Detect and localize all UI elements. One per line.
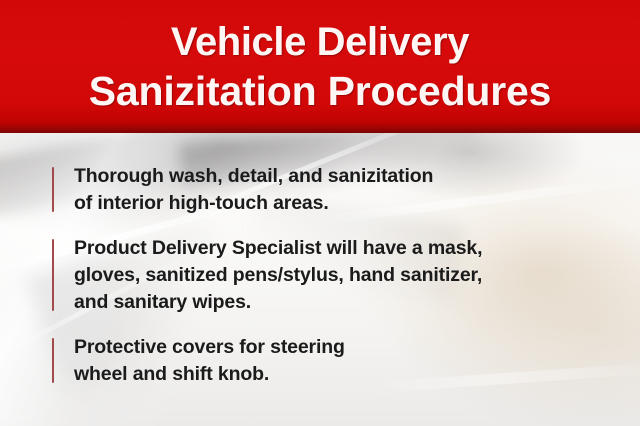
list-item-text: Thorough wash, detail, and sanizitation …	[74, 163, 640, 217]
list-item: Product Delivery Specialist will have a …	[0, 235, 640, 316]
list-item-text: Protective covers for steering wheel and…	[74, 334, 640, 388]
vertical-rule-marker	[52, 338, 54, 383]
page-title-line-2: Sanizitation Procedures	[89, 67, 551, 116]
vertical-rule-marker	[52, 239, 54, 311]
vertical-rule-marker	[52, 167, 54, 212]
procedures-list: Thorough wash, detail, and sanizitation …	[0, 163, 640, 388]
page-title-line-1: Vehicle Delivery	[89, 18, 551, 67]
procedures-body: Thorough wash, detail, and sanizitation …	[0, 133, 640, 426]
header-banner: Vehicle Delivery Sanizitation Procedures	[0, 0, 640, 133]
list-item-text: Product Delivery Specialist will have a …	[74, 235, 640, 316]
sanitization-procedures-graphic: Vehicle Delivery Sanizitation Procedures…	[0, 0, 640, 426]
page-title: Vehicle Delivery Sanizitation Procedures	[81, 18, 559, 116]
list-item: Thorough wash, detail, and sanizitation …	[0, 163, 640, 217]
list-item: Protective covers for steering wheel and…	[0, 334, 640, 388]
